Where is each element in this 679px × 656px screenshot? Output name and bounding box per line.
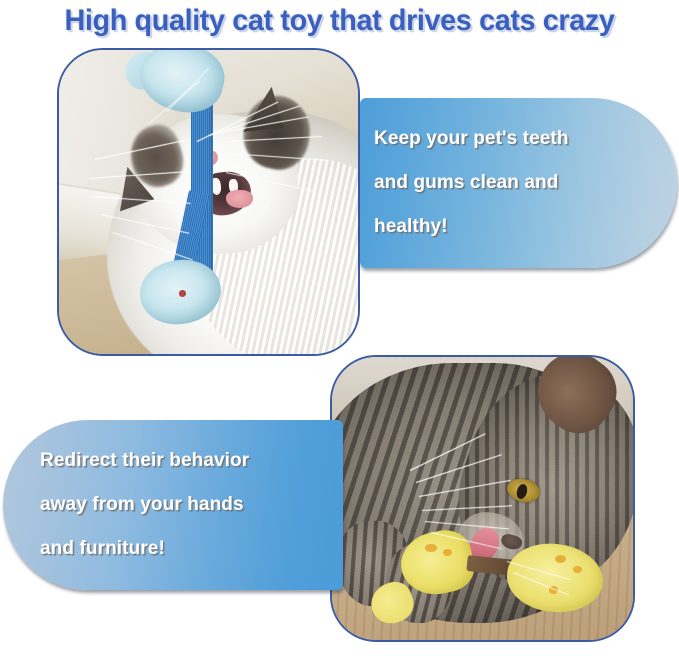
- toy-spot: [555, 555, 566, 563]
- photo-tabby-licking-yellow-toy-scene: [332, 357, 633, 640]
- page-title: High quality cat toy that drives cats cr…: [64, 5, 614, 37]
- toy-spot: [573, 566, 582, 573]
- benefit-line: Keep your pet's teeth: [374, 128, 677, 150]
- benefit-line: and furniture!: [40, 538, 343, 560]
- toy-spot: [549, 586, 559, 593]
- photo-tabby-licking-yellow-toy: [330, 355, 635, 642]
- benefit-line: healthy!: [374, 216, 677, 238]
- photo-cat-biting-ribbon-toy: [57, 48, 360, 356]
- benefit-panel-teeth-gums: Keep your pet's teeth and gums clean and…: [360, 98, 677, 268]
- plush-fish-toy-eye: [179, 290, 187, 297]
- benefit-line: Redirect their behavior: [40, 450, 343, 472]
- benefit-line: and gums clean and: [374, 172, 677, 194]
- page-title-bar: High quality cat toy that drives cats cr…: [0, 0, 679, 42]
- benefit-panel-redirect-behavior: Redirect their behavior away from your h…: [3, 420, 343, 590]
- photo-cat-biting-ribbon-toy-scene: [59, 50, 358, 354]
- benefit-line: away from your hands: [40, 494, 343, 516]
